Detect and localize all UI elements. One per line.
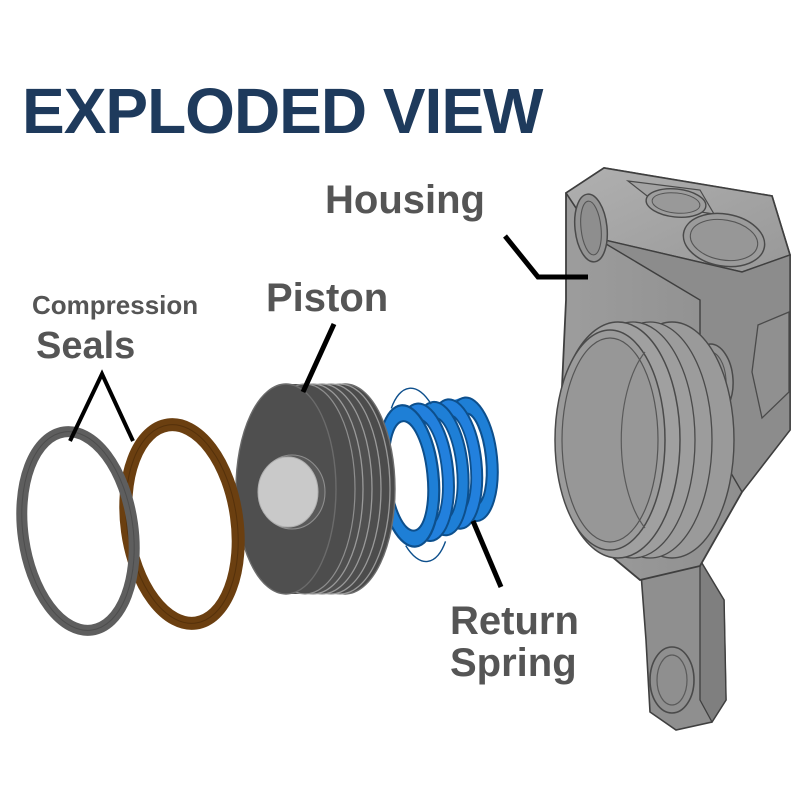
label-spring: Spring [450,641,577,685]
part-piston[interactable] [236,384,395,594]
housing-leg-side [700,560,726,722]
leader-return-spring [473,521,501,587]
piston-hub [258,457,318,527]
exploded-view-diagram: EXPLODED VIEW Housing Piston Compression… [0,0,800,800]
piston-hub-group [258,455,325,529]
label-housing: Housing [325,178,485,222]
page-title: EXPLODED VIEW [22,75,544,147]
label-compression: Compression [32,290,198,320]
leader-piston [303,324,334,392]
housing-bore-cavity [562,338,658,542]
diagram-canvas: EXPLODED VIEW Housing Piston Compression… [0,0,800,800]
part-housing[interactable] [555,168,790,730]
label-piston: Piston [266,276,388,320]
label-return: Return [450,599,579,643]
label-seals: Seals [36,325,135,367]
